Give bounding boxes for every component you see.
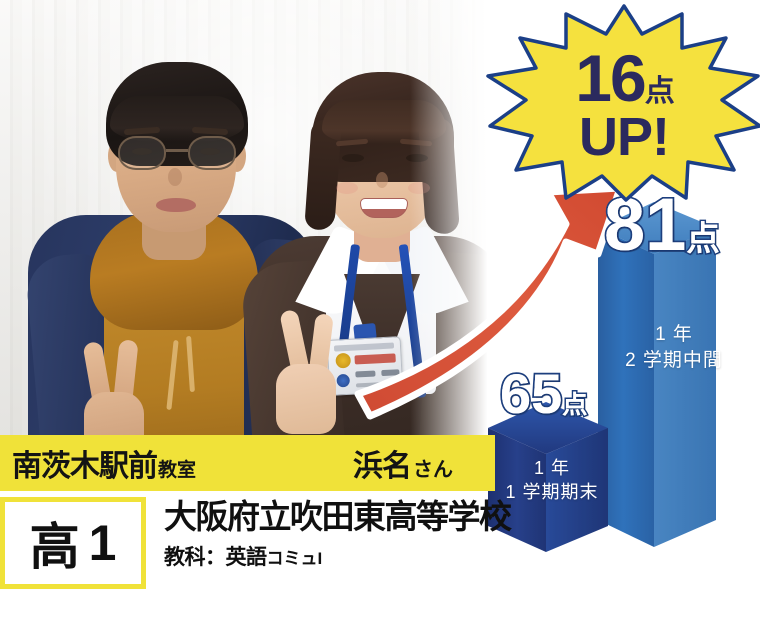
peace-sign-hand-left: [74, 340, 152, 440]
student-details: 高 1 大阪府立吹田東高等学校 教科：英語コミュI: [0, 497, 495, 609]
points-up-burst: 16点 UP!: [486, 4, 760, 202]
classroom-banner: 南茨木駅前 教室 浜名 さん: [0, 435, 495, 491]
score-label-65: 65点: [500, 366, 587, 422]
school-block: 大阪府立吹田東高等学校 教科：英語コミュI: [164, 497, 511, 571]
glasses-icon: [118, 136, 236, 170]
classroom-name: 南茨木駅前 教室: [12, 441, 196, 485]
subject-line: 教科：英語コミュI: [164, 541, 511, 571]
result-card: 1 年 2 学期中間: [0, 0, 760, 620]
grade-badge: 高 1: [0, 497, 146, 589]
student-name: 浜名 さん: [353, 441, 453, 485]
school-name: 大阪府立吹田東高等学校: [164, 499, 511, 535]
peace-sign-hand-right: [268, 310, 348, 434]
